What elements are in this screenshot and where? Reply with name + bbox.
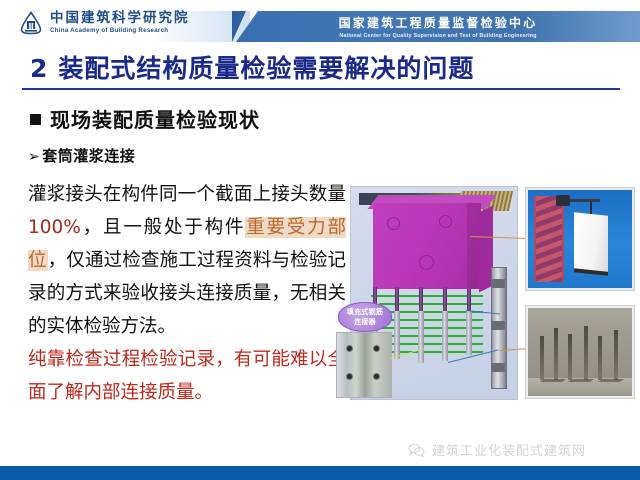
rebar-shadow [568, 379, 594, 382]
section-heading: 现场装配质量检验现状 [30, 104, 260, 133]
org-name-en: China Academy of Building Research [50, 28, 190, 34]
block-hole-icon [439, 215, 452, 228]
title-label: 装配式结构质量检验需要解决的问题 [58, 54, 474, 83]
callout-line-2: 连接器 [354, 317, 376, 327]
sleeve-grout-connection-diagram: 填充式钢筋 连接器 [344, 184, 636, 406]
crane-cab-icon [556, 195, 570, 206]
square-bullet-icon [30, 114, 41, 125]
section-heading-label: 现场装配质量检验现状 [50, 108, 260, 132]
rebar-shadow [598, 379, 624, 382]
rebar-dowel [540, 336, 544, 380]
header-center-titles: 国家建筑工程质量监督检验中心 National Center for Quali… [236, 11, 640, 42]
rebar-dowel [614, 330, 618, 380]
rebar-dowel [568, 334, 572, 380]
site-watermark: 建筑工业化装配式建筑网 [408, 440, 586, 459]
rebar-dowel [584, 326, 588, 380]
paragraph-seg-3: ，且一般处于构件 [81, 217, 245, 238]
cabr-emblem-icon [18, 10, 44, 36]
page-title: 2装配式结构质量检验需要解决的问题 [30, 49, 474, 85]
grout-dowel [443, 287, 447, 313]
grout-dowel [395, 287, 399, 313]
center-name-cn: 国家建筑工程质量监督检验中心 [339, 14, 538, 31]
slide-title-row: 2装配式结构质量检验需要解决的问题 [0, 49, 640, 89]
block-hole-icon [419, 255, 434, 270]
connector-port-icon [373, 345, 380, 352]
block-hole-icon [387, 217, 400, 230]
connector-port-icon [373, 373, 380, 380]
paragraph-seg-5: ，仅通过检查施工过程资料与检验记录的方式来验收接头连接质量，无相关的实体检验方法… [28, 250, 346, 337]
arrow-bullet-icon: ➢ [28, 149, 40, 165]
slide: 国家建筑工程质量监督检验中心 National Center for Quali… [0, 0, 640, 480]
paragraph-main: 灌浆接头在构件同一个截面上接头数量100%，且一般处于构件重要受力部位，仅通过检… [28, 178, 346, 343]
org-name-cn: 中国建筑科学研究院 [50, 12, 190, 26]
footer-bar [0, 466, 640, 480]
tower-crane-icon [534, 196, 564, 282]
grout-sleeve [466, 311, 472, 355]
rebar-shadow [540, 379, 566, 382]
section-subheading-label: 套筒灌浆连接 [42, 147, 135, 165]
rebar-dowel [598, 336, 602, 380]
sleeve-detail-node [491, 363, 505, 372]
title-divider [22, 88, 620, 90]
header-band: 国家建筑工程质量监督检验中心 National Center for Quali… [236, 11, 640, 42]
cabr-logo: 中国建筑科学研究院 China Academy of Building Rese… [18, 10, 190, 36]
slide-header: 国家建筑工程质量监督检验中心 National Center for Quali… [0, 0, 640, 46]
protruding-rebar-dowels-photo [526, 306, 634, 398]
logo-text-block: 中国建筑科学研究院 China Academy of Building Rese… [50, 12, 190, 34]
watermark-label: 建筑工业化装配式建筑网 [432, 440, 586, 459]
paragraph-emphasis-percent: 100% [28, 217, 81, 238]
crane-hook-icon [590, 201, 592, 215]
connector-callout-label: 填充式钢筋 连接器 [338, 302, 392, 332]
callout-line-1: 填充式钢筋 [347, 307, 384, 317]
grout-sleeve [442, 311, 448, 361]
connector-port-icon [346, 373, 353, 380]
grout-sleeve [394, 311, 400, 359]
precast-panel-icon [574, 212, 608, 272]
crane-lifting-precast-panel-photo [526, 188, 634, 290]
precast-block [373, 203, 481, 289]
title-number: 2 [30, 54, 48, 83]
sleeve-detail-node [491, 279, 505, 288]
grout-dowel [419, 287, 423, 313]
section-subheading: ➢套筒灌浆连接 [28, 145, 135, 166]
connector-port-icon [346, 345, 353, 352]
wechat-icon [408, 443, 425, 457]
sleeve-detail-node [491, 321, 505, 330]
rebar-dowel [554, 328, 558, 380]
center-name-en: National Center for Quality Supervision … [339, 33, 536, 39]
body-copy: 灌浆接头在构件同一个截面上接头数量100%，且一般处于构件重要受力部位，仅通过检… [28, 178, 346, 409]
paragraph-seg-1: 灌浆接头在构件同一个截面上接头数量 [28, 184, 346, 205]
paragraph-conclusion: 纯靠检查过程检验记录，有可能难以全面了解内部连接质量。 [28, 343, 346, 409]
grout-sleeve-connector-photo [336, 332, 392, 398]
grout-sleeve [418, 311, 424, 363]
